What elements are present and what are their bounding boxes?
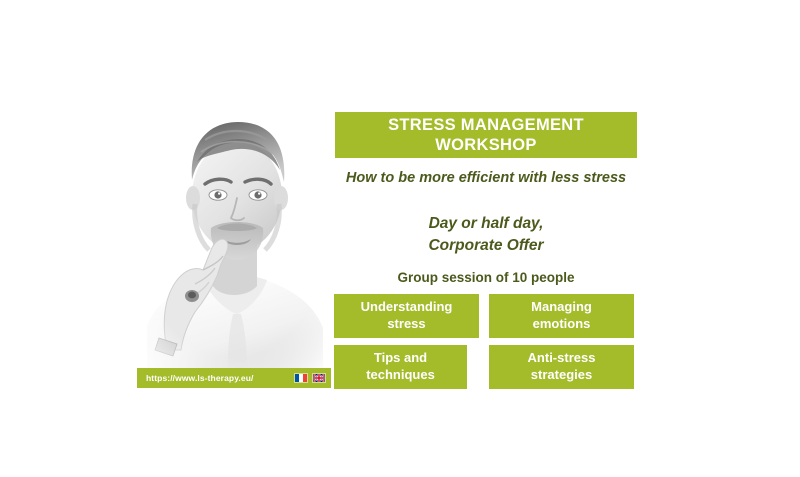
website-url-bar[interactable]: https://www.ls-therapy.eu/ [137,368,331,388]
workshop-subtitle: How to be more efficient with less stres… [335,170,637,187]
workshop-title-text: STRESS MANAGEMENT WORKSHOP [388,115,584,155]
group-session-text: Group session of 10 people [335,270,637,285]
workshop-title-banner: STRESS MANAGEMENT WORKSHOP [335,112,637,158]
workshop-offer-text: Day or half day, Corporate Offer [335,213,637,257]
france-flag-icon[interactable] [294,373,308,383]
topic-box-tips-and-techniques[interactable]: Tips and techniques [334,345,467,389]
website-url-text: https://www.ls-therapy.eu/ [146,373,253,383]
united-kingdom-flag-icon[interactable] [312,373,326,383]
topic-box-anti-stress-strategies[interactable]: Anti-stress strategies [489,345,634,389]
flyer-canvas: https://www.ls-therapy.eu/ STRESS MANAGE… [0,0,800,477]
language-flags [294,373,326,383]
topic-box-managing-emotions[interactable]: Managing emotions [489,294,634,338]
portrait-photo [137,100,331,370]
portrait-photo-block: https://www.ls-therapy.eu/ [137,100,331,388]
topic-box-understanding-stress[interactable]: Understanding stress [334,294,479,338]
